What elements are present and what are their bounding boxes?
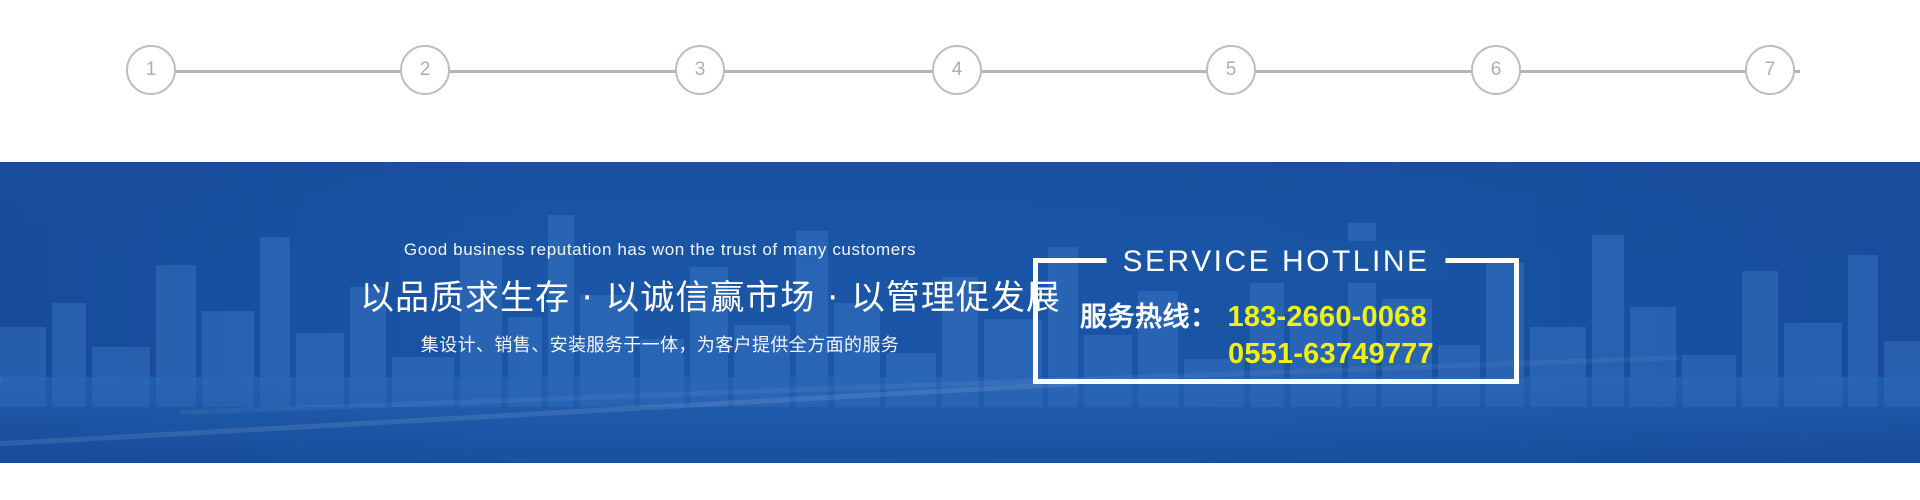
step-circle-7[interactable]: 7: [1745, 45, 1795, 95]
hotline-phone-primary[interactable]: 183-2660-0068: [1228, 301, 1427, 334]
stepper-bar: 1 2 3 4 5 6 7: [0, 0, 1920, 162]
hotline-rows: 服务热线： 183-2660-0068 0551-63749777: [1038, 295, 1514, 371]
step-label-4: 4: [952, 59, 963, 81]
road-decoration: [0, 377, 1920, 463]
step-label-5: 5: [1226, 59, 1237, 81]
hotline-row-primary: 服务热线： 183-2660-0068: [1038, 295, 1514, 334]
step-label-3: 3: [695, 59, 706, 81]
hotline-label: 服务热线：: [1080, 295, 1218, 334]
step-circle-3[interactable]: 3: [675, 45, 725, 95]
slogan-chinese-subline: 集设计、销售、安装服务于一体，为客户提供全方面的服务: [360, 334, 960, 357]
page-root: 1 2 3 4 5 6 7: [0, 0, 1920, 500]
slogan-english-line: Good business reputation has won the tru…: [360, 240, 960, 260]
road-stripe-1: [0, 381, 1078, 453]
step-circle-6[interactable]: 6: [1471, 45, 1521, 95]
slogan-chinese-headline: 以品质求生存 · 以诚信赢市场 · 以管理促发展: [360, 277, 960, 320]
step-label-6: 6: [1491, 59, 1502, 81]
step-circle-5[interactable]: 5: [1206, 45, 1256, 95]
service-hotline-title: SERVICE HOTLINE: [1106, 241, 1445, 283]
step-circle-1[interactable]: 1: [126, 45, 176, 95]
hotline-phone-secondary[interactable]: 0551-63749777: [1228, 338, 1434, 371]
step-circle-2[interactable]: 2: [400, 45, 450, 95]
step-label-7: 7: [1765, 59, 1776, 81]
hotline-row-secondary: 0551-63749777: [1038, 338, 1514, 371]
service-hotline-box: SERVICE HOTLINE 服务热线： 183-2660-0068 0551…: [1033, 258, 1519, 384]
step-circle-4[interactable]: 4: [932, 45, 982, 95]
step-label-1: 1: [146, 59, 157, 81]
hero-banner: Good business reputation has won the tru…: [0, 162, 1920, 463]
step-label-2: 2: [420, 59, 431, 81]
slogan-block: Good business reputation has won the tru…: [360, 240, 960, 357]
